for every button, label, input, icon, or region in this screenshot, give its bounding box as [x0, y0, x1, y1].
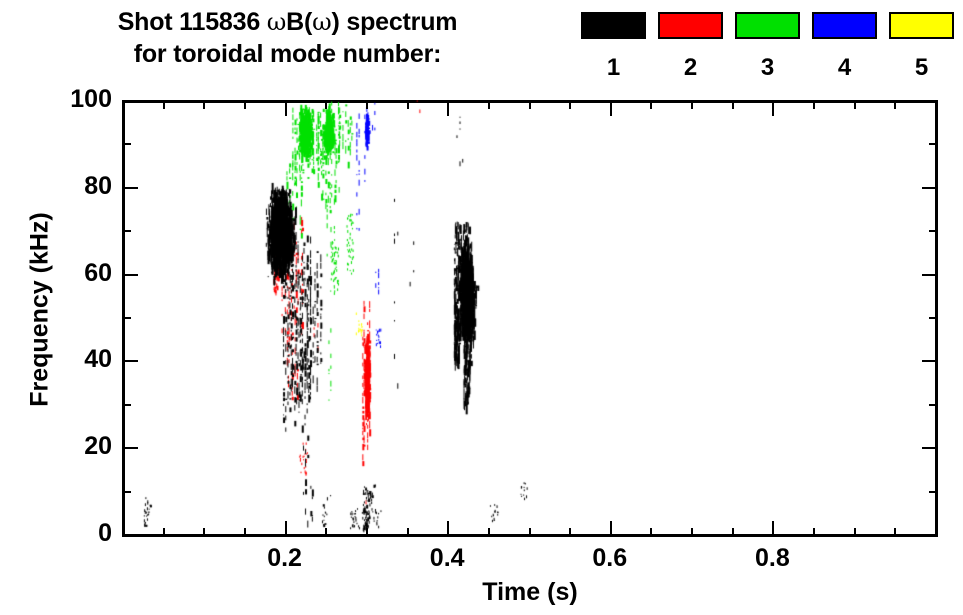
legend-color-box-5 — [889, 12, 954, 39]
x-tick-top-0.45 — [488, 100, 490, 109]
title-spectrum-text: ) spectrum — [332, 8, 458, 36]
y-tick-10 — [122, 491, 131, 493]
x-tick-0.10 — [203, 528, 205, 537]
title-line-2: for toroidal mode number: — [0, 38, 575, 70]
y-tick-0 — [122, 534, 138, 536]
y-tick-right-0 — [922, 534, 938, 536]
y-tick-30 — [122, 404, 131, 406]
y-tick-20 — [122, 447, 138, 449]
y-tick-right-80 — [922, 187, 938, 189]
y-tick-90 — [122, 143, 131, 145]
title-shot-text: Shot 115836 — [118, 8, 267, 36]
x-tick-top-0.80 — [772, 100, 774, 116]
x-axis-title: Time (s) — [122, 578, 938, 607]
legend-swatch-5 — [883, 10, 960, 40]
omega-symbol-1: ω — [267, 8, 286, 36]
legend-swatch-1 — [575, 10, 652, 40]
x-tick-0.65 — [650, 528, 652, 537]
y-tick-80 — [122, 187, 138, 189]
x-tick-top-0.20 — [285, 100, 287, 116]
x-tick-0.75 — [732, 528, 734, 537]
x-tick-label-0.6: 0.6 — [560, 546, 660, 571]
x-tick-top-0.40 — [447, 100, 449, 116]
x-tick-0.15 — [244, 528, 246, 537]
legend-mode-number-4: 4 — [838, 56, 851, 80]
x-tick-0.50 — [529, 528, 531, 537]
x-tick-0.25 — [325, 528, 327, 537]
x-tick-0.95 — [894, 528, 896, 537]
legend: 12345 — [575, 10, 963, 86]
x-tick-top-0.05 — [163, 100, 165, 109]
x-tick-top-0.50 — [529, 100, 531, 109]
x-tick-top-0.65 — [650, 100, 652, 109]
legend-label-cell-5: 5 — [883, 50, 960, 86]
legend-label-row: 12345 — [575, 50, 963, 86]
x-tick-top-0.35 — [407, 100, 409, 109]
x-tick-top-0.15 — [244, 100, 246, 109]
y-tick-right-90 — [929, 143, 938, 145]
legend-mode-number-3: 3 — [761, 56, 774, 80]
x-tick-top-0.55 — [569, 100, 571, 109]
y-axis-title: Frequency (kHz) — [26, 160, 55, 460]
x-tick-0.20 — [285, 521, 287, 537]
legend-swatch-2 — [652, 10, 729, 40]
legend-color-box-2 — [658, 12, 723, 39]
x-tick-0.05 — [163, 528, 165, 537]
x-tick-top-0.75 — [732, 100, 734, 109]
x-tick-0.30 — [366, 528, 368, 537]
x-tick-0.55 — [569, 528, 571, 537]
legend-swatch-row — [575, 10, 963, 40]
x-tick-0.45 — [488, 528, 490, 537]
legend-mode-number-2: 2 — [684, 56, 697, 80]
y-tick-70 — [122, 230, 131, 232]
y-tick-right-30 — [929, 404, 938, 406]
x-tick-0.70 — [691, 528, 693, 537]
legend-swatch-3 — [729, 10, 806, 40]
title-b-text: B( — [286, 8, 312, 36]
spectrogram-canvas — [122, 100, 935, 534]
y-tick-100 — [122, 100, 138, 102]
omega-symbol-2: ω — [312, 8, 331, 36]
legend-label-cell-4: 4 — [806, 50, 883, 86]
y-tick-right-60 — [922, 274, 938, 276]
legend-swatch-4 — [806, 10, 883, 40]
x-tick-0.80 — [772, 521, 774, 537]
x-tick-top-0.95 — [894, 100, 896, 109]
y-tick-right-40 — [922, 360, 938, 362]
x-tick-top-0.70 — [691, 100, 693, 109]
chart-title: Shot 115836 ωB(ω) spectrum for toroidal … — [0, 6, 575, 70]
x-tick-label-0.4: 0.4 — [397, 546, 497, 571]
x-tick-top-0.10 — [203, 100, 205, 109]
legend-label-cell-1: 1 — [575, 50, 652, 86]
x-tick-top-0.25 — [325, 100, 327, 109]
x-tick-label-0.8: 0.8 — [722, 546, 822, 571]
legend-mode-number-1: 1 — [607, 56, 620, 80]
x-tick-0.40 — [447, 521, 449, 537]
x-tick-0.90 — [854, 528, 856, 537]
legend-color-box-4 — [812, 12, 877, 39]
legend-label-cell-2: 2 — [652, 50, 729, 86]
y-tick-right-10 — [929, 491, 938, 493]
legend-color-box-3 — [735, 12, 800, 39]
x-tick-top-0.90 — [854, 100, 856, 109]
y-tick-right-70 — [929, 230, 938, 232]
legend-label-cell-3: 3 — [729, 50, 806, 86]
y-tick-right-20 — [922, 447, 938, 449]
y-tick-40 — [122, 360, 138, 362]
x-tick-top-0.60 — [610, 100, 612, 116]
legend-color-box-1 — [581, 12, 646, 39]
y-tick-right-100 — [922, 100, 938, 102]
x-tick-0.35 — [407, 528, 409, 537]
x-tick-0.60 — [610, 521, 612, 537]
y-tick-50 — [122, 317, 131, 319]
x-tick-label-0.2: 0.2 — [235, 546, 335, 571]
x-tick-top-0.30 — [366, 100, 368, 109]
legend-mode-number-5: 5 — [915, 56, 928, 80]
y-tick-label-100: 100 — [12, 87, 112, 112]
y-tick-right-50 — [929, 317, 938, 319]
title-line-1: Shot 115836 ωB(ω) spectrum — [0, 6, 575, 38]
y-tick-label-0: 0 — [12, 521, 112, 546]
y-tick-60 — [122, 274, 138, 276]
x-tick-0.85 — [813, 528, 815, 537]
x-tick-top-0.85 — [813, 100, 815, 109]
